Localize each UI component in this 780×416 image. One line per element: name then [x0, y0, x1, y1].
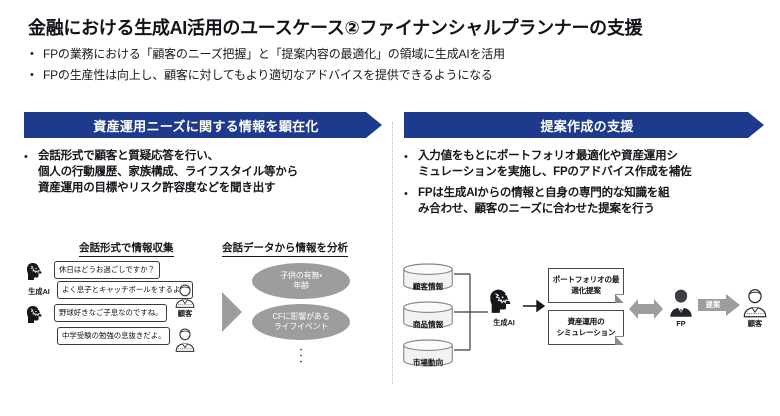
summary-bullet-text: FPの生産性は向上し、顧客に対してもより適切なアドバイスを提供できるようになる [43, 67, 493, 84]
right-panel-bullets: • 入力値をもとにポートフォリオ最適化や資産運用シ ミュレーションを実施し、FP… [404, 148, 764, 217]
doc-line: ポートフォリオの最 [553, 275, 620, 284]
right-panel-bullet-text-1: 入力値をもとにポートフォリオ最適化や資産運用シ ミュレーションを実施し、FPのア… [418, 148, 691, 180]
bullet-line: 会話形式で顧客と質疑応答を行い、 [38, 150, 219, 162]
bullet-line: 資産運用の目標やリスク許容度などを聞き出す [38, 182, 275, 194]
panel-divider [392, 122, 393, 384]
oval-line: ライフイベント [274, 322, 329, 331]
right-panel-bullet-text-2: FPは生成AIからの情報と自身の専門的な知識を組 み合わせ、顧客のニーズに合わせ… [418, 185, 669, 217]
analysis-oval-1: 子供の有無・ 年齢 [252, 263, 350, 299]
customer-person-icon [174, 284, 196, 308]
analysis-oval-1-text: 子供の有無・ 年齢 [280, 271, 322, 292]
customer-person-icon [174, 328, 196, 352]
customer-label: 顧客 [742, 319, 768, 329]
right-panel: 提案作成の支援 • 入力値をもとにポートフォリオ最適化や資産運用シ ミュレーショ… [404, 112, 764, 222]
oval-line: 子供の有無・ [280, 271, 322, 280]
flow-arrow-right-icon [220, 290, 244, 334]
doc-fold-corner-icon [615, 336, 624, 345]
slide-root: 金融における生成AI活用のユースケース②ファイナンシャルプランナーの支援 • F… [0, 0, 780, 416]
summary-bullet-text: FPの業務における「顧客のニーズ把握」と「提案内容の最適化」の領域に生成AIを活… [43, 46, 505, 63]
subheading-conversation-analysis: 会話データから情報を分析 [222, 240, 348, 257]
generative-ai-head-icon [26, 305, 48, 325]
right-panel-bullet: • FPは生成AIからの情報と自身の専門的な知識を組 み合わせ、顧客のニーズに合… [404, 185, 764, 217]
generative-ai-head-icon [26, 262, 48, 282]
arrow-right-icon [523, 299, 545, 313]
output-doc-portfolio: ポートフォリオの最 適化提案 [548, 268, 624, 303]
left-panel-bullet-text: 会話形式で顧客と質疑応答を行い、 個人の行動履歴、家族構成、ライフスタイル等から… [38, 148, 298, 196]
proposal-label: 提案 [700, 300, 726, 310]
oval-ellipsis: ・ ・ ・ [296, 347, 306, 365]
analysis-oval-2: CFに影響がある ライフイベント [252, 304, 350, 340]
left-panel-banner-label: 資産運用ニーズに関する情報を顕在化 [87, 116, 318, 135]
bullet-line: み合わせ、顧客のニーズに合わせた提案を行う [418, 203, 655, 215]
right-panel-banner: 提案作成の支援 [404, 112, 764, 138]
left-panel-bullets: • 会話形式で顧客と質疑応答を行い、 個人の行動履歴、家族構成、ライフスタイル等… [24, 148, 382, 196]
ellipsis-dot: ・ [296, 359, 306, 365]
summary-bullet-list: • FPの業務における「顧客のニーズ把握」と「提案内容の最適化」の領域に生成AI… [30, 46, 750, 88]
bullet-line: FPは生成AIからの情報と自身の専門的な知識を組 [418, 187, 669, 199]
double-arrow-icon [629, 296, 663, 322]
bullet-line: 入力値をもとにポートフォリオ最適化や資産運用シ [418, 150, 678, 162]
customer-person-icon [742, 288, 768, 318]
summary-bullet: • FPの業務における「顧客のニーズ把握」と「提案内容の最適化」の領域に生成AI… [30, 46, 750, 63]
left-panel: 資産運用ニーズに関する情報を顕在化 • 会話形式で顧客と質疑応答を行い、 個人の… [24, 112, 382, 201]
page-title: 金融における生成AI活用のユースケース②ファイナンシャルプランナーの支援 [28, 14, 642, 40]
database-label-customer-info: 顧客情報 [402, 281, 454, 292]
generative-ai-label: 生成AI [486, 318, 522, 328]
chat-bubble-ai-1: 休日はどうお過ごしですか？ [54, 261, 160, 279]
right-panel-bullet: • 入力値をもとにポートフォリオ最適化や資産運用シ ミュレーションを実施し、FP… [404, 148, 764, 180]
fp-person-icon [668, 288, 694, 318]
fp-label: FP [668, 319, 694, 328]
output-doc-portfolio-text: ポートフォリオの最 適化提案 [553, 275, 620, 296]
bullet-line: 個人の行動履歴、家族構成、ライフスタイル等から [38, 166, 298, 178]
generative-ai-head-icon [489, 288, 519, 316]
chat-bubble-customer-2: 中学受験の勉強の息抜きだよ。 [57, 327, 170, 345]
database-label-product-info: 商品情報 [402, 319, 454, 330]
chat-bubble-customer-1: よく息子とキャッチボールをするよ。 [57, 281, 193, 299]
oval-line: CFに影響がある [272, 312, 329, 321]
bullet-marker-icon: • [30, 67, 43, 84]
doc-line: 資産運用の [568, 317, 605, 326]
database-label-market-trends: 市場動向 [402, 357, 454, 368]
doc-line: シミュレーション [557, 328, 616, 337]
oval-line: 年齢 [293, 281, 309, 290]
database-connector-lines [454, 268, 492, 354]
bullet-marker-icon: • [30, 46, 43, 63]
analysis-oval-2-text: CFに影響がある ライフイベント [272, 312, 329, 333]
output-doc-simulation-text: 資産運用の シミュレーション [557, 317, 616, 338]
summary-bullet: • FPの生産性は向上し、顧客に対してもより適切なアドバイスを提供できるようにな… [30, 67, 750, 84]
subheading-conversation-collection: 会話形式で情報収集 [79, 240, 174, 257]
left-panel-banner: 資産運用ニーズに関する情報を顕在化 [24, 112, 382, 138]
doc-fold-corner-icon [615, 294, 624, 303]
generative-ai-label: 生成AI [22, 287, 56, 297]
left-panel-bullet: • 会話形式で顧客と質疑応答を行い、 個人の行動履歴、家族構成、ライフスタイル等… [24, 148, 382, 196]
bullet-marker-icon: • [24, 148, 38, 165]
bullet-line: ミュレーションを実施し、FPのアドバイス作成を補佐 [418, 166, 691, 178]
bullet-marker-icon: • [404, 148, 418, 165]
chat-bubble-ai-2: 野球好きなご子息なのですね。 [54, 304, 167, 322]
customer-label: 顧客 [174, 309, 196, 319]
doc-line: 適化提案 [571, 286, 601, 295]
output-doc-simulation: 資産運用の シミュレーション [548, 310, 624, 345]
right-panel-banner-label: 提案作成の支援 [534, 116, 633, 135]
bullet-marker-icon: • [404, 185, 418, 202]
